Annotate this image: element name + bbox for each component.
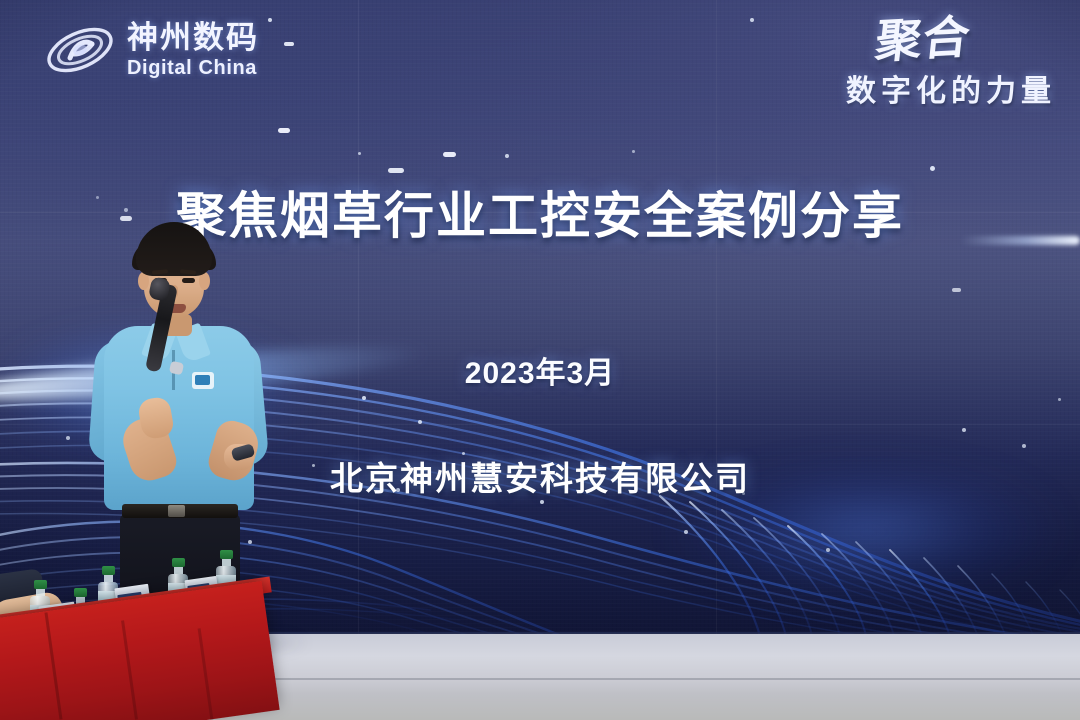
bottle-neck	[36, 589, 45, 596]
presenter-chest-logo-inner	[195, 375, 210, 385]
swirl-galaxy-icon	[42, 18, 118, 82]
digital-china-logo: 神州数码 Digital China	[42, 18, 259, 82]
presenter-polo-shirt	[104, 326, 254, 510]
slogan-brush-text: 聚合	[873, 16, 972, 63]
bottle-cap	[102, 566, 115, 575]
event-slogan: 聚合 数字化的力量	[846, 18, 1056, 110]
conference-stage-photo: 聚焦烟草行业工控安全案例分享 2023年3月 北京神州慧安科技有限公司 神州数码…	[0, 0, 1080, 720]
presenter-hair	[136, 222, 212, 276]
presenter-eye-right	[182, 278, 195, 283]
logo-name-en: Digital China	[127, 58, 259, 78]
bottle-cap	[172, 558, 185, 567]
bottle-cap	[34, 580, 47, 589]
bottle-neck	[222, 559, 231, 566]
bottle-neck	[104, 575, 113, 582]
bottle-cap	[220, 550, 233, 559]
presenter-belt-buckle	[168, 505, 185, 517]
slogan-sub-text: 数字化的力量	[846, 66, 1056, 110]
logo-text-block: 神州数码 Digital China	[127, 22, 259, 78]
logo-name-cn: 神州数码	[127, 22, 259, 53]
bottle-cap	[74, 588, 87, 597]
bottle-neck	[174, 567, 183, 574]
